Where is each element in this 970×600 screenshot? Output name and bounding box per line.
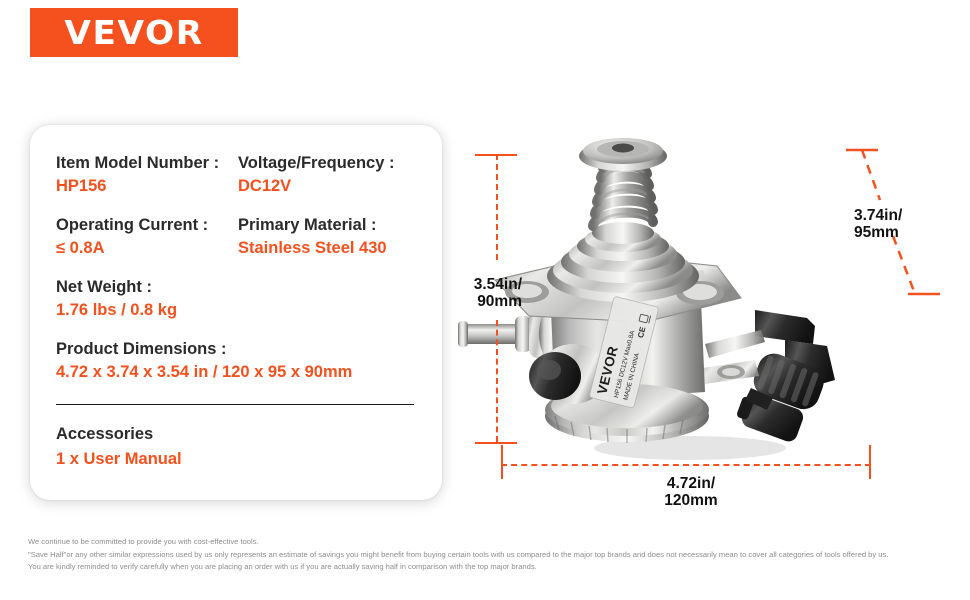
spec-value-net-weight: 1.76 lbs / 0.8 kg (56, 300, 416, 321)
spec-value-voltage-frequency: DC12V (238, 176, 416, 197)
height-dimension-metric: 90mm (477, 293, 522, 310)
specification-grid: Item Model Number : HP156 Voltage/Freque… (56, 153, 416, 384)
width-dim-cap-right (869, 445, 871, 479)
height-dim-cap-bottom (475, 442, 517, 444)
spec-label-voltage-frequency: Voltage/Frequency : (238, 153, 416, 174)
spec-value-model-number: HP156 (56, 176, 234, 197)
height-dim-line-upper (496, 154, 498, 260)
product-spec-page: VEVOR Item Model Number : HP156 Voltage/… (0, 0, 970, 600)
spec-label-primary-material: Primary Material : (238, 215, 416, 236)
depth-dimension-metric: 95mm (854, 224, 899, 241)
width-dimension-metric: 120mm (664, 492, 717, 509)
accessories-block: Accessories 1 x User Manual (56, 423, 416, 471)
spec-item-operating-current: Operating Current : ≤ 0.8A (56, 215, 234, 260)
width-dim-line (501, 464, 871, 466)
spec-divider (56, 404, 414, 405)
spec-label-operating-current: Operating Current : (56, 215, 234, 236)
vevor-logo-text: VEVOR (64, 16, 203, 49)
spec-label-product-dimensions: Product Dimensions : (56, 339, 416, 360)
depth-dimension-label: 3.74in/ 95mm (854, 207, 902, 242)
width-dim-cap-left (501, 445, 503, 479)
width-dimension-label: 4.72in/ 120mm (631, 475, 751, 510)
spec-item-net-weight: Net Weight : 1.76 lbs / 0.8 kg (56, 277, 416, 322)
disclaimer-line-3: You are kindly reminded to verify carefu… (28, 561, 943, 574)
accessories-value: 1 x User Manual (56, 448, 416, 470)
spec-item-voltage-frequency: Voltage/Frequency : DC12V (238, 153, 416, 198)
height-dimension-label: 3.54in/ 90mm (427, 276, 522, 311)
spec-value-product-dimensions: 4.72 x 3.74 x 3.54 in / 120 x 95 x 90mm (56, 362, 416, 383)
depth-dimension-imperial: 3.74in/ (854, 207, 902, 224)
height-dim-line-lower (496, 320, 498, 442)
spec-label-model-number: Item Model Number : (56, 153, 234, 174)
disclaimer-line-1: We continue to be committed to provide y… (28, 536, 943, 549)
product-image-area: VEVOR HP156 DC12V Max0.8A MADE IN CHINA … (455, 130, 970, 530)
vevor-logo: VEVOR (30, 8, 238, 57)
disclaimer-text: We continue to be committed to provide y… (28, 536, 943, 574)
accessories-label: Accessories (56, 423, 416, 445)
spec-value-primary-material: Stainless Steel 430 (238, 238, 416, 259)
spec-label-net-weight: Net Weight : (56, 277, 416, 298)
width-dimension-imperial: 4.72in/ (667, 475, 715, 492)
depth-dimension-lines (830, 148, 970, 348)
spec-item-primary-material: Primary Material : Stainless Steel 430 (238, 215, 416, 260)
specification-card: Item Model Number : HP156 Voltage/Freque… (30, 125, 442, 500)
spec-value-operating-current: ≤ 0.8A (56, 238, 234, 259)
disclaimer-line-2: "Save Half"or any other similar expressi… (28, 549, 943, 562)
height-dimension-imperial: 3.54in/ (474, 276, 522, 293)
spec-item-model-number: Item Model Number : HP156 (56, 153, 234, 198)
spec-item-product-dimensions: Product Dimensions : 4.72 x 3.74 x 3.54 … (56, 339, 416, 384)
